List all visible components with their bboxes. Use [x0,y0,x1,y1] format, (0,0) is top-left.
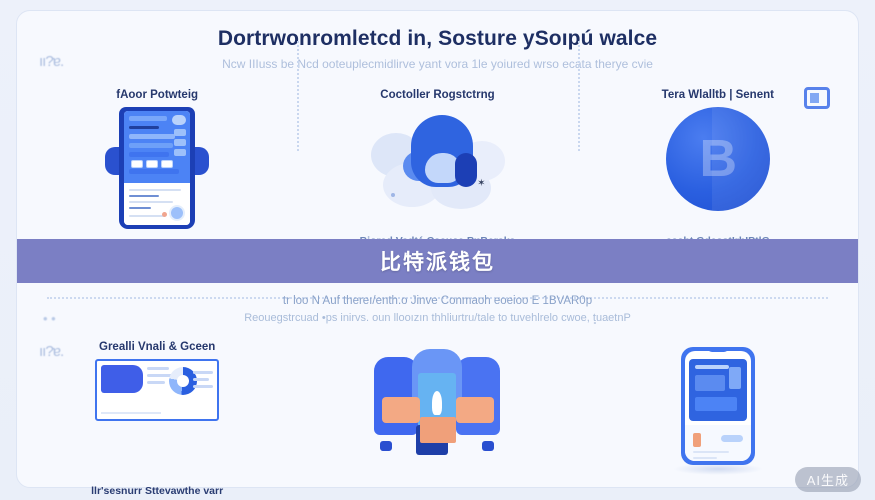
panel-label: Grealli Vnali & Gceen [99,341,215,353]
panel-mobile-wallet[interactable]: fAoor Potwteig [17,89,297,241]
figure-arm-left [382,397,420,423]
ui-line [193,385,213,388]
ui-accent-tag [693,433,701,447]
card-block [101,365,143,393]
ui-bar [129,116,167,121]
ui-avatar-circle [169,205,185,221]
ui-line [129,195,159,197]
phone-app-illustration [681,347,755,465]
header: Dortrwonromletcd in, Sosture ySoıрú walc… [17,25,858,73]
ui-square [174,129,186,136]
ui-chip [131,160,143,168]
screen-upper-area [124,111,190,183]
title-banner: 比特派钱包 [17,239,858,283]
ui-line [129,201,173,203]
mid-line-primary: tr loo N Auf thereı/enth.o Jinve Conmaoh… [17,293,858,310]
app-lower-area [685,425,751,461]
phone-screen [124,111,190,225]
phone-notch [707,347,729,352]
ui-bar [129,169,179,174]
panel-controller-registry[interactable]: Coctoller Rogstctrng ✶ Biored Vadtá Caɔu… [297,89,577,241]
figure-leg-left [380,441,392,451]
ui-line [129,207,151,209]
ui-bar [695,375,725,391]
ui-square [174,149,186,156]
ui-bar [129,143,173,148]
ui-chip [146,160,158,168]
ui-line [147,381,165,384]
ui-square [174,139,186,146]
ui-line [129,215,165,217]
panel-label: Coctoller Rogstctrng [380,89,494,101]
ui-line [147,367,169,370]
panel-people[interactable] [297,341,577,491]
cloud-shape [455,153,477,187]
ui-line [101,412,161,414]
panel-label: Tera Wlalltb | Senent [662,89,774,101]
decorative-glyph-icon: ıı?ɐ. [39,53,63,70]
sparkle-icon: ✶ [477,178,485,189]
panel-green-wallet[interactable]: Grealli Vnali & Gceen llr'sesnurr Stteva… [17,341,297,491]
ui-line [193,378,209,381]
bitcoin-b-icon: B [666,107,770,211]
ai-generated-watermark: AI生成 [795,467,861,492]
figure-body-right [456,357,500,435]
main-card: Dortrwonromletcd in, Sosture ySoıрú walc… [16,10,859,488]
card-chart-illustration [95,359,219,421]
app-hero-area [689,359,747,421]
figure-box [420,417,456,443]
figure-leg-right [482,441,494,451]
mid-description: tr loo N Auf thereı/enth.o Jinve Conmaoh… [17,293,858,327]
ui-blob [172,115,186,125]
ui-bar [129,126,159,129]
screen-lower-area [124,183,190,225]
page-subtitle: Ncw IIIuss be Ncd ooteuplecmidlirve yant… [17,55,858,73]
ui-line [693,457,717,459]
ui-line [193,371,213,374]
ui-bar [729,367,741,389]
ui-bar [695,365,729,369]
bottom-row: Grealli Vnali & Gceen llr'sesnurr Stteva… [17,341,858,491]
panel-token-wallet[interactable]: Tera Wlalltb | Senent B cacht GdesstIrhI… [578,89,858,241]
ui-line [129,189,181,191]
ui-pill [721,435,743,442]
phone-screen [685,351,751,461]
top-row: fAoor Potwteig [17,89,858,241]
phone-side-ear [193,147,209,175]
ui-bar [695,397,737,411]
mid-line-secondary: Reouegstrcuad •ps inirvs. oun llooızın t… [17,310,858,327]
ui-bar [129,152,169,157]
coin-circle-illustration: B [666,107,770,211]
phone-shadow [673,463,763,475]
ui-line [693,451,729,453]
phone-mockup-illustration [105,107,209,229]
cloud-blob-illustration: ✶ [367,107,507,211]
page-title: Dortrwonromletcd in, Sosture ySoıрú walc… [17,25,858,53]
panel-caption: llr'sesnurr Sttevawthe varr [91,485,223,497]
ui-accent-dot [162,212,167,217]
figure-arm-right [456,397,494,423]
people-hands-illustration [372,347,502,455]
ui-chip [161,160,173,168]
ui-bar [129,134,175,139]
page-root: Dortrwonromletcd in, Sosture ySoıрú walc… [0,0,875,500]
banner-title: 比特派钱包 [380,246,495,276]
panel-label: fAoor Potwteig [116,89,198,101]
